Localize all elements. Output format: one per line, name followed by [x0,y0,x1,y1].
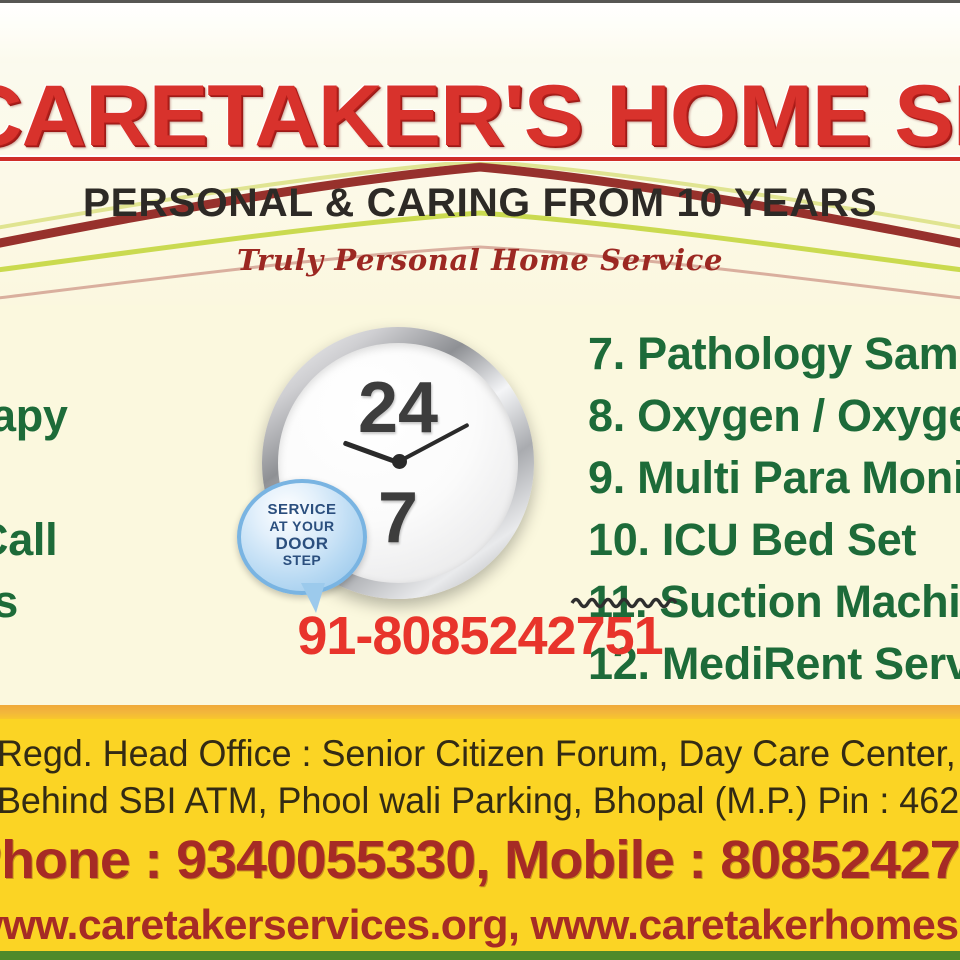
banner-header: CARETAKER'S HOME SER PERSONAL & CARING F… [0,63,960,305]
clock-center-cap [392,454,407,469]
coiled-cord-icon [570,595,690,611]
clock-icon: 24 7 SERVICE AT YOUR DOOR STEP [262,327,534,599]
service-item-4: r on Call [0,509,200,571]
service-item-7: 7. Pathology Sample [588,323,960,385]
top-gradient-strip [0,3,960,63]
clock-number-24: 24 [262,367,534,449]
bubble-tail [301,583,325,613]
advertisement-banner: CARETAKER'S HOME SER PERSONAL & CARING F… [0,0,960,960]
footer-phone-numbers[interactable]: Phone : 9340055330, Mobile : 8085242751 [0,829,960,891]
bubble-line-1: SERVICE [241,501,363,518]
bubble-line-3: DOOR [241,535,363,552]
service-item-9: 9. Multi Para Monit [588,447,960,509]
company-title: CARETAKER'S HOME SER [0,71,960,166]
footer-orange-band [0,705,960,719]
banner-script-tagline: Truly Personal Home Service [0,243,960,277]
service-at-doorstep-bubble: SERVICE AT YOUR DOOR STEP [237,479,367,595]
company-title-container: CARETAKER'S HOME SER [0,71,960,167]
services-section: akers otherapy ng r on Call Sitters ance… [0,305,960,705]
address-line-1: Regd. Head Office : Senior Citizen Forum… [0,733,960,775]
footer-website-links[interactable]: www.caretakerservices.org, www.caretaker… [0,901,960,949]
bubble-line-2: AT YOUR [241,518,363,535]
bubble-line-4: STEP [241,552,363,569]
banner-subtitle: PERSONAL & CARING FROM 10 YEARS [0,181,960,226]
service-item-10: 10. ICU Bed Set [588,509,960,571]
title-underline [0,155,960,162]
service-item-8: 8. Oxygen / Oxygen [588,385,960,447]
bubble-text-block: SERVICE AT YOUR DOOR STEP [241,501,363,569]
service-item-2: otherapy [0,385,200,447]
service-item-3: ng [0,447,200,509]
footer-green-line [0,951,960,960]
service-item-1: akers [0,323,200,385]
banner-footer: Regd. Head Office : Senior Citizen Forum… [0,705,960,960]
center-phone-number[interactable]: 91-8085242751 [0,605,960,667]
address-line-2: Behind SBI ATM, Phool wali Parking, Bhop… [0,780,960,822]
